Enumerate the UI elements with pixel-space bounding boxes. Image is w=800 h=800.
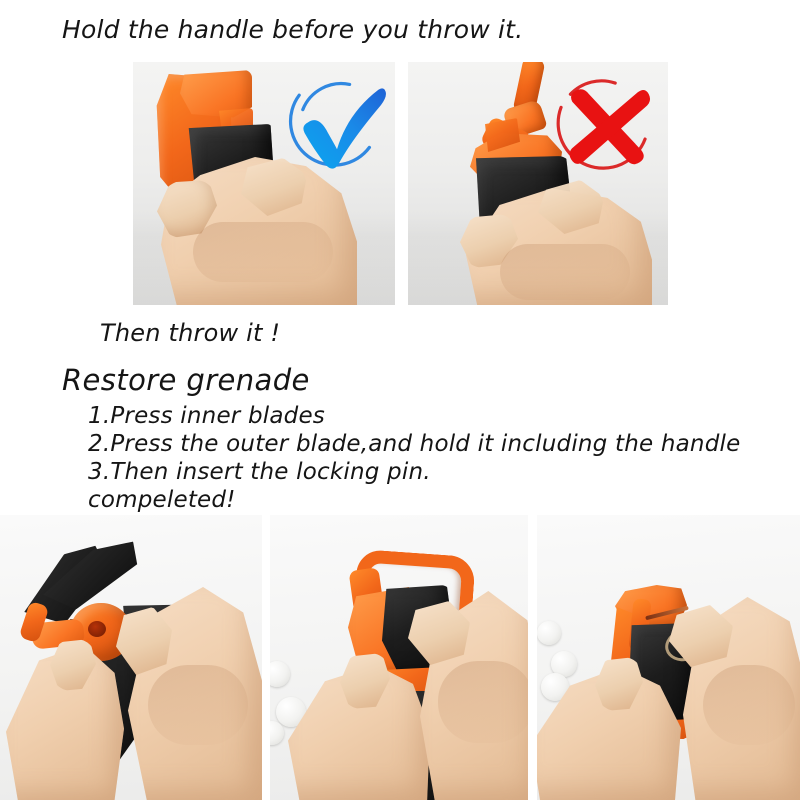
step-item-2: 2.Press the outer blade,and hold it incl… [88, 430, 740, 458]
step-item-3: 3.Then insert the locking pin. [88, 458, 431, 486]
hand-shading [148, 665, 248, 745]
photo-insert-locking-pin [537, 515, 800, 800]
hand-knuckle-shading [500, 244, 630, 300]
hand-shading [703, 665, 795, 745]
photo-press-outer-blade [270, 515, 528, 800]
hand-knuckle-shading [193, 222, 333, 282]
photo-press-inner-blades [0, 515, 262, 800]
step-item-1: 1.Press inner blades [88, 402, 325, 430]
photo-correct-grip [133, 62, 395, 305]
grenade-hub-center [88, 621, 106, 637]
foam-ball [537, 621, 561, 645]
photo-incorrect-grip [408, 62, 668, 305]
hand-shading [438, 661, 528, 743]
completed-note: compeleted! [88, 486, 236, 514]
check-mark-icon [283, 70, 391, 178]
then-throw-text: Then throw it ! [100, 318, 280, 348]
page-headline: Hold the handle before you throw it. [62, 15, 523, 45]
cross-mark-icon [548, 70, 660, 182]
section-title: Restore grenade [62, 362, 310, 398]
instruction-sheet: Hold the handle before you throw it. [0, 0, 800, 800]
